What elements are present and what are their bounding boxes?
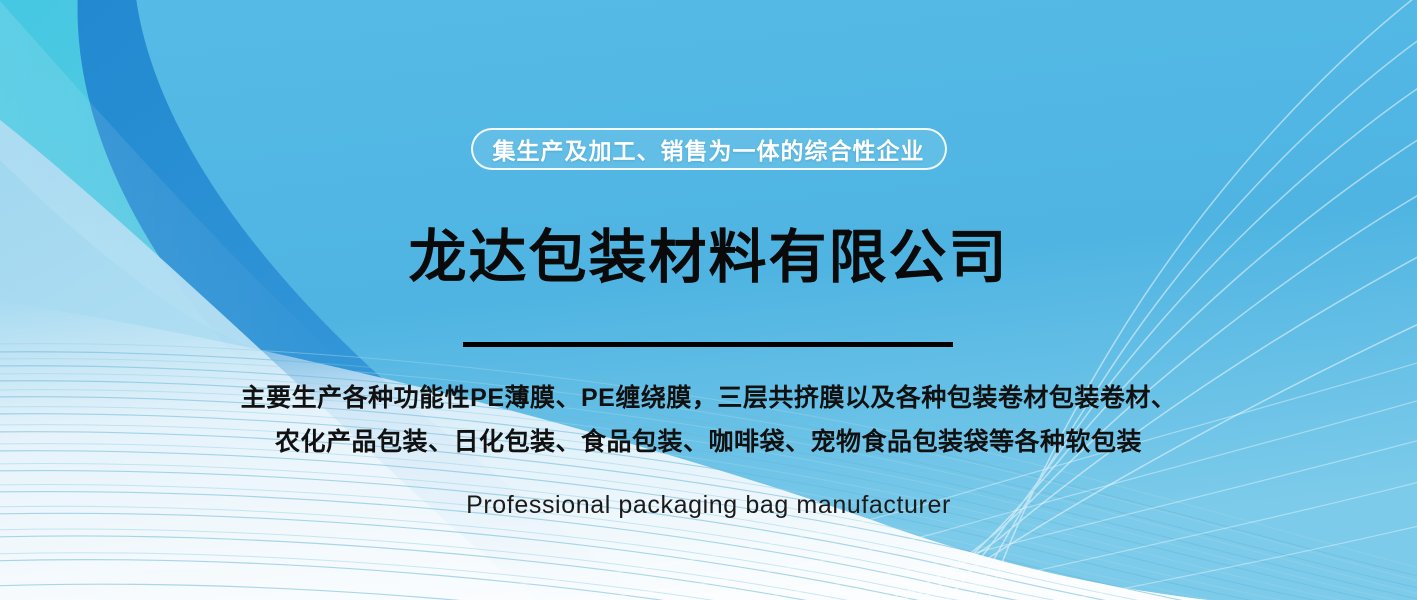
description-block: 主要生产各种功能性PE薄膜、PE缠绕膜，三层共挤膜以及各种包装卷材包装卷材、 农… [241, 377, 1177, 465]
english-subtitle: Professional packaging bag manufacturer [466, 491, 951, 520]
tagline-badge: 集生产及加工、销售为一体的综合性企业 [471, 128, 947, 170]
tagline-text: 集生产及加工、销售为一体的综合性企业 [493, 132, 925, 166]
company-title: 龙达包装材料有限公司 [408, 227, 1008, 290]
promo-banner: 集生产及加工、销售为一体的综合性企业 龙达包装材料有限公司 主要生产各种功能性P… [0, 0, 1417, 600]
title-block: 龙达包装材料有限公司 [408, 188, 1008, 347]
description-line-2: 农化产品包装、日化包装、食品包装、咖啡袋、宠物食品包装袋等各种软包装 [241, 421, 1177, 465]
description-line-1: 主要生产各种功能性PE薄膜、PE缠绕膜，三层共挤膜以及各种包装卷材包装卷材、 [241, 377, 1177, 421]
title-underline-rule [463, 342, 953, 347]
banner-content: 集生产及加工、销售为一体的综合性企业 龙达包装材料有限公司 主要生产各种功能性P… [0, 0, 1417, 600]
